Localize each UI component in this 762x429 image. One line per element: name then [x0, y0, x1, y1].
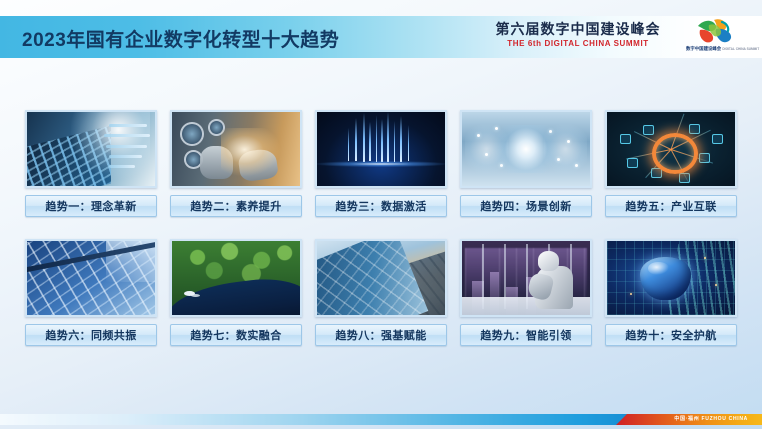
footer-blue-bar: [0, 414, 628, 425]
summit-logo-caption-cn: 数字中国建设峰会: [686, 46, 721, 51]
blue-solar-panels-image: [27, 241, 155, 315]
trend-card[interactable]: 趋势一：理念革新: [25, 110, 157, 217]
trend-label[interactable]: 趋势六：同频共振: [25, 324, 157, 346]
trend-label[interactable]: 趋势五：产业互联: [605, 195, 737, 217]
trend-card[interactable]: 趋势三：数据激活: [315, 110, 447, 217]
footer-location-text: 中国·福州 FUZHOU CHINA: [674, 415, 748, 424]
trend-card[interactable]: 趋势七：数实融合: [170, 239, 302, 346]
solar-panel-sunset-image: [317, 241, 445, 315]
summit-branding: 第六届数字中国建设峰会 THE 6th DIGITAL CHINA SUMMIT: [478, 20, 678, 49]
summit-logo-caption: 数字中国建设峰会 DIGITAL CHINA SUMMIT: [686, 46, 744, 53]
trend-thumbnail: [25, 239, 157, 317]
trend-label[interactable]: 趋势八：强基赋能: [315, 324, 447, 346]
forest-and-water-image: [172, 241, 300, 315]
security-shield-image: [607, 241, 735, 315]
trend-thumbnail: [170, 110, 302, 188]
trend-card[interactable]: 趋势八：强基赋能: [315, 239, 447, 346]
trend-thumbnail: [605, 239, 737, 317]
trend-label[interactable]: 趋势一：理念革新: [25, 195, 157, 217]
trend-card[interactable]: 趋势十：安全护航: [605, 239, 737, 346]
trend-thumbnail: [170, 239, 302, 317]
trend-thumbnail: [25, 110, 157, 188]
trend-thumbnail: [315, 110, 447, 188]
trend-label[interactable]: 趋势二：素养提升: [170, 195, 302, 217]
summit-logo: 数字中国建设峰会 DIGITAL CHINA SUMMIT: [686, 17, 744, 57]
footer-ribbon: 中国·福州 FUZHOU CHINA: [0, 407, 762, 429]
iot-hub-ring-image: [607, 112, 735, 186]
blue-data-streams-image: [317, 112, 445, 186]
trend-thumbnail: [315, 239, 447, 317]
trend-label[interactable]: 趋势九：智能引领: [460, 324, 592, 346]
trend-thumbnail: [460, 239, 592, 317]
blue-data-helix-image: [27, 112, 155, 186]
trend-card[interactable]: 趋势六：同频共振: [25, 239, 157, 346]
summit-title-cn: 第六届数字中国建设峰会: [478, 20, 678, 38]
summit-logo-caption-en: DIGITAL CHINA SUMMIT: [722, 47, 759, 51]
trend-label[interactable]: 趋势十：安全护航: [605, 324, 737, 346]
trend-card[interactable]: 趋势九：智能引领: [460, 239, 592, 346]
trend-card[interactable]: 趋势二：素养提升: [170, 110, 302, 217]
network-light-burst-image: [462, 112, 590, 186]
trend-card[interactable]: 趋势五：产业互联: [605, 110, 737, 217]
summit-title-en: THE 6th DIGITAL CHINA SUMMIT: [478, 38, 678, 49]
trend-thumbnail: [605, 110, 737, 188]
trend-card[interactable]: 趋势四：场景创新: [460, 110, 592, 217]
hands-on-control-panel-image: [172, 112, 300, 186]
trend-label[interactable]: 趋势七：数实融合: [170, 324, 302, 346]
header-bar: 2023年国有企业数字化转型十大趋势 第六届数字中国建设峰会 THE 6th D…: [0, 16, 762, 58]
slide-canvas: 2023年国有企业数字化转型十大趋势 第六届数字中国建设峰会 THE 6th D…: [0, 0, 762, 429]
trend-thumbnail: [460, 110, 592, 188]
page-title: 2023年国有企业数字化转型十大趋势: [22, 25, 339, 52]
summit-logo-icon: [692, 17, 738, 45]
trend-card-grid: 趋势一：理念革新 趋势二：素养提升: [25, 110, 737, 346]
robot-night-city-image: [462, 241, 590, 315]
trend-label[interactable]: 趋势四：场景创新: [460, 195, 592, 217]
trend-label[interactable]: 趋势三：数据激活: [315, 195, 447, 217]
